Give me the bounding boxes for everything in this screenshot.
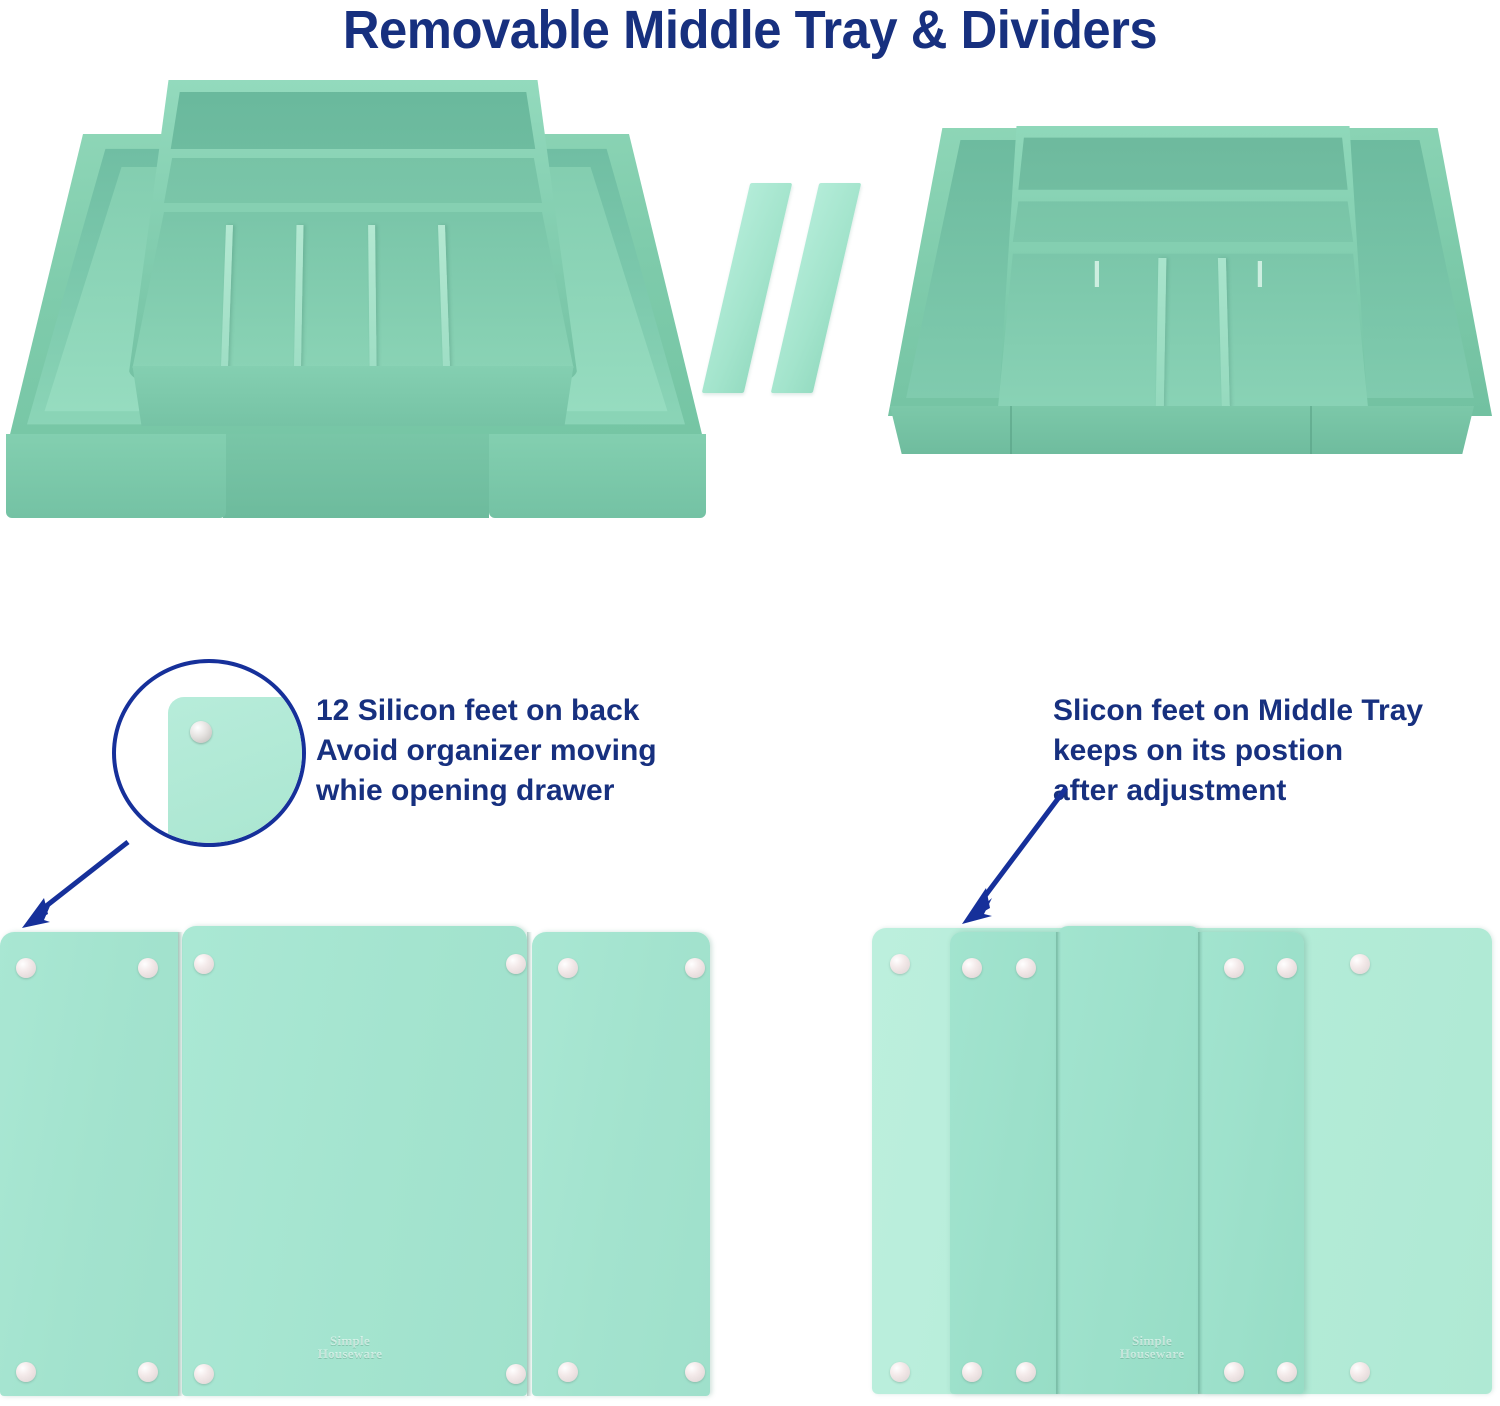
silicone-foot bbox=[962, 1362, 982, 1382]
right-callout-line-3: after adjustment bbox=[1053, 771, 1423, 811]
back-panel-right bbox=[532, 932, 710, 1396]
silicone-foot bbox=[558, 958, 578, 978]
assembled-front-seam-left bbox=[1010, 406, 1012, 454]
silicone-foot bbox=[962, 958, 982, 978]
silicone-foot bbox=[1016, 958, 1036, 978]
expanded-back-view: Simple Houseware bbox=[0, 906, 720, 1406]
base-tray-front-left-block bbox=[6, 434, 226, 518]
brand-logo-emboss: Simple Houseware bbox=[1087, 1334, 1217, 1360]
right-callout-text: Slicon feet on Middle Tray keeps on its … bbox=[1053, 691, 1423, 811]
page-title: Removable Middle Tray & Dividers bbox=[45, 0, 1455, 60]
assembled-front-wall bbox=[890, 406, 1474, 454]
magnifier-callout-bubble bbox=[112, 659, 306, 847]
back-panel-left bbox=[0, 932, 178, 1396]
silicone-foot bbox=[194, 1364, 214, 1384]
middle-tray-panel-center bbox=[1058, 926, 1200, 1394]
silicone-foot bbox=[1277, 1362, 1297, 1382]
silicone-foot bbox=[506, 954, 526, 974]
left-callout-line-1: 12 Silicon feet on back bbox=[316, 691, 657, 731]
brand-logo-emboss: Simple Houseware bbox=[285, 1334, 415, 1360]
silicone-foot bbox=[685, 958, 705, 978]
middle-tray-panel-right bbox=[1200, 932, 1304, 1394]
empty-divider-slot-2 bbox=[1257, 261, 1262, 287]
left-callout-line-3: whie opening drawer bbox=[316, 771, 657, 811]
empty-divider-slot-1 bbox=[1094, 261, 1099, 287]
installed-middle-tray bbox=[998, 126, 1368, 426]
exploded-organizer-illustration bbox=[0, 62, 720, 532]
silicone-foot bbox=[890, 954, 910, 974]
silicone-foot bbox=[194, 954, 214, 974]
right-callout-line-2: keeps on its postion bbox=[1053, 731, 1423, 771]
back-panel-middle bbox=[182, 926, 527, 1396]
removable-middle-tray bbox=[128, 80, 578, 410]
assembled-front-seam-right bbox=[1310, 406, 1312, 454]
silicone-foot bbox=[1016, 1362, 1036, 1382]
brand-logo-line-2: Houseware bbox=[285, 1347, 415, 1360]
panel-seam-right bbox=[527, 932, 532, 1396]
silicone-foot bbox=[506, 1364, 526, 1384]
middle-tray-panel-left bbox=[950, 932, 1058, 1394]
panel-seam-left bbox=[178, 932, 183, 1396]
silicone-foot bbox=[685, 1362, 705, 1382]
silicone-foot bbox=[1350, 954, 1370, 974]
magnified-tray-corner bbox=[168, 697, 306, 847]
silicone-foot bbox=[558, 1362, 578, 1382]
silicone-foot bbox=[16, 1362, 36, 1382]
collapsed-seam-right bbox=[1198, 932, 1203, 1394]
silicone-foot bbox=[1224, 958, 1244, 978]
base-tray-front-right-block bbox=[489, 434, 706, 518]
collapsed-seam-left bbox=[1056, 932, 1061, 1394]
silicone-foot bbox=[890, 1362, 910, 1382]
right-callout-line-1: Slicon feet on Middle Tray bbox=[1053, 691, 1423, 731]
silicone-foot bbox=[1350, 1362, 1370, 1382]
magnified-silicone-foot-icon bbox=[190, 721, 212, 743]
silicone-foot bbox=[138, 1362, 158, 1382]
left-callout-line-2: Avoid organizer moving bbox=[316, 731, 657, 771]
brand-logo-line-2: Houseware bbox=[1087, 1347, 1217, 1360]
middle-tray-front-lip bbox=[128, 366, 578, 426]
assembled-organizer-illustration bbox=[880, 120, 1500, 490]
silicone-foot bbox=[138, 958, 158, 978]
silicone-foot bbox=[1224, 1362, 1244, 1382]
left-callout-text: 12 Silicon feet on back Avoid organizer … bbox=[316, 691, 657, 811]
silicone-foot bbox=[16, 958, 36, 978]
silicone-foot bbox=[1277, 958, 1297, 978]
collapsed-back-view: Simple Houseware bbox=[872, 906, 1500, 1406]
